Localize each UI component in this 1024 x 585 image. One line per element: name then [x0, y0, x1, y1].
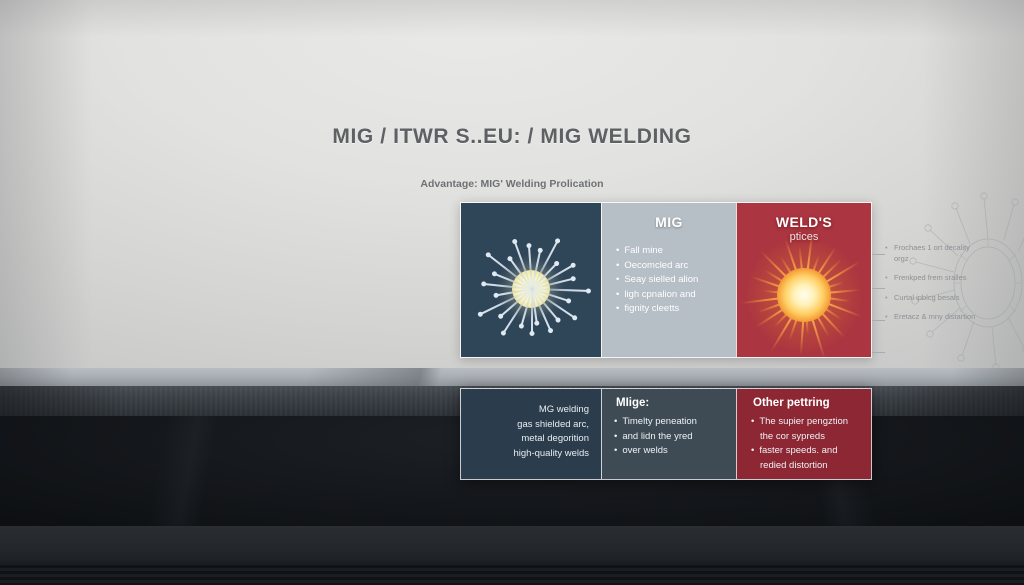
blue-spark-graphic [471, 229, 591, 349]
counter-base [0, 526, 1024, 566]
text-line: high-quality welds [471, 447, 589, 462]
top-right-heading: WELD'S [737, 203, 871, 230]
bottom-panel-middle: MIige: Timelty peneation and lidn the yr… [601, 389, 736, 479]
annotation-item: Curtal ipblcg besals [885, 293, 985, 304]
bottom-left-text-block: MG welding gas shielded arc, metal degor… [461, 389, 601, 461]
list-item: Fall mine [616, 244, 736, 259]
burst-core [777, 268, 831, 322]
top-middle-heading: MIG [602, 203, 736, 230]
page-title: MIG / ITWR S..EU: / MIG WELDING [0, 125, 1024, 149]
annotation-list: Frochaes 1 ort decality orgz Frenkped fr… [885, 243, 985, 332]
annotation-item: Frochaes 1 ort decality orgz [885, 243, 985, 264]
list-item: over welds [614, 444, 736, 459]
counter-top-surface [0, 368, 1024, 387]
bullet-text: The supier pengztion [759, 416, 848, 427]
bottom-panel-right: Other pettring The supier pengztionthe c… [736, 389, 871, 479]
annotation-leader-line [872, 320, 885, 321]
list-item: Oecomcled arc [616, 259, 736, 274]
bullet-text-continuation: redied distortion [751, 459, 871, 474]
text-line: MG welding [471, 403, 589, 418]
floor-grooves [0, 562, 1024, 585]
list-item: faster speeds. andredied distortion [751, 444, 871, 473]
bottom-panel-left: MG welding gas shielded arc, metal degor… [461, 389, 601, 479]
top-panel-left [461, 203, 601, 357]
top-comparison-board: MIG Fall mine Oecomcled arc Seay sielled… [460, 202, 872, 358]
bottom-middle-heading: MIige: [602, 389, 736, 409]
bottom-comparison-board: MG welding gas shielded arc, metal degor… [460, 388, 872, 480]
top-middle-bullet-list: Fall mine Oecomcled arc Seay sielled ali… [616, 244, 736, 317]
orange-burst-graphic [736, 227, 871, 357]
annotation-leader-line [872, 254, 885, 255]
bottom-middle-bullet-list: Timelty peneation and lidn the yred over… [614, 415, 736, 459]
top-right-subheading: ptices [737, 231, 871, 243]
bottom-right-bullet-list: The supier pengztionthe cor sypreds fast… [751, 415, 871, 473]
annotation-leader-line [872, 288, 885, 289]
page-subtitle: Advantage: MIG' Welding Prolication [0, 178, 1024, 190]
list-item: ligh cpnalion and [616, 288, 736, 303]
list-item: The supier pengztionthe cor sypreds [751, 415, 871, 444]
list-item: Seay sielled alion [616, 273, 736, 288]
annotation-leader-line [872, 352, 885, 353]
top-panel-middle: MIG Fall mine Oecomcled arc Seay sielled… [601, 203, 736, 357]
bottom-right-heading: Other pettring [737, 389, 871, 409]
bullet-text: faster speeds. and [759, 445, 837, 456]
list-item: fignity cleetts [616, 302, 736, 317]
text-line: metal degorition [471, 432, 589, 447]
annotation-item: Eretacz & mny distartion [885, 312, 985, 323]
infographic-scene: MIG / ITWR S..EU: / MIG WELDING Advantag… [0, 0, 1024, 585]
annotation-item: Frenkped frem sralles [885, 273, 985, 284]
top-panel-right: WELD'S ptices [736, 203, 871, 357]
list-item: and lidn the yred [614, 430, 736, 445]
list-item: Timelty peneation [614, 415, 736, 430]
text-line: gas shielded arc, [471, 418, 589, 433]
bullet-text-continuation: the cor sypreds [751, 430, 871, 445]
